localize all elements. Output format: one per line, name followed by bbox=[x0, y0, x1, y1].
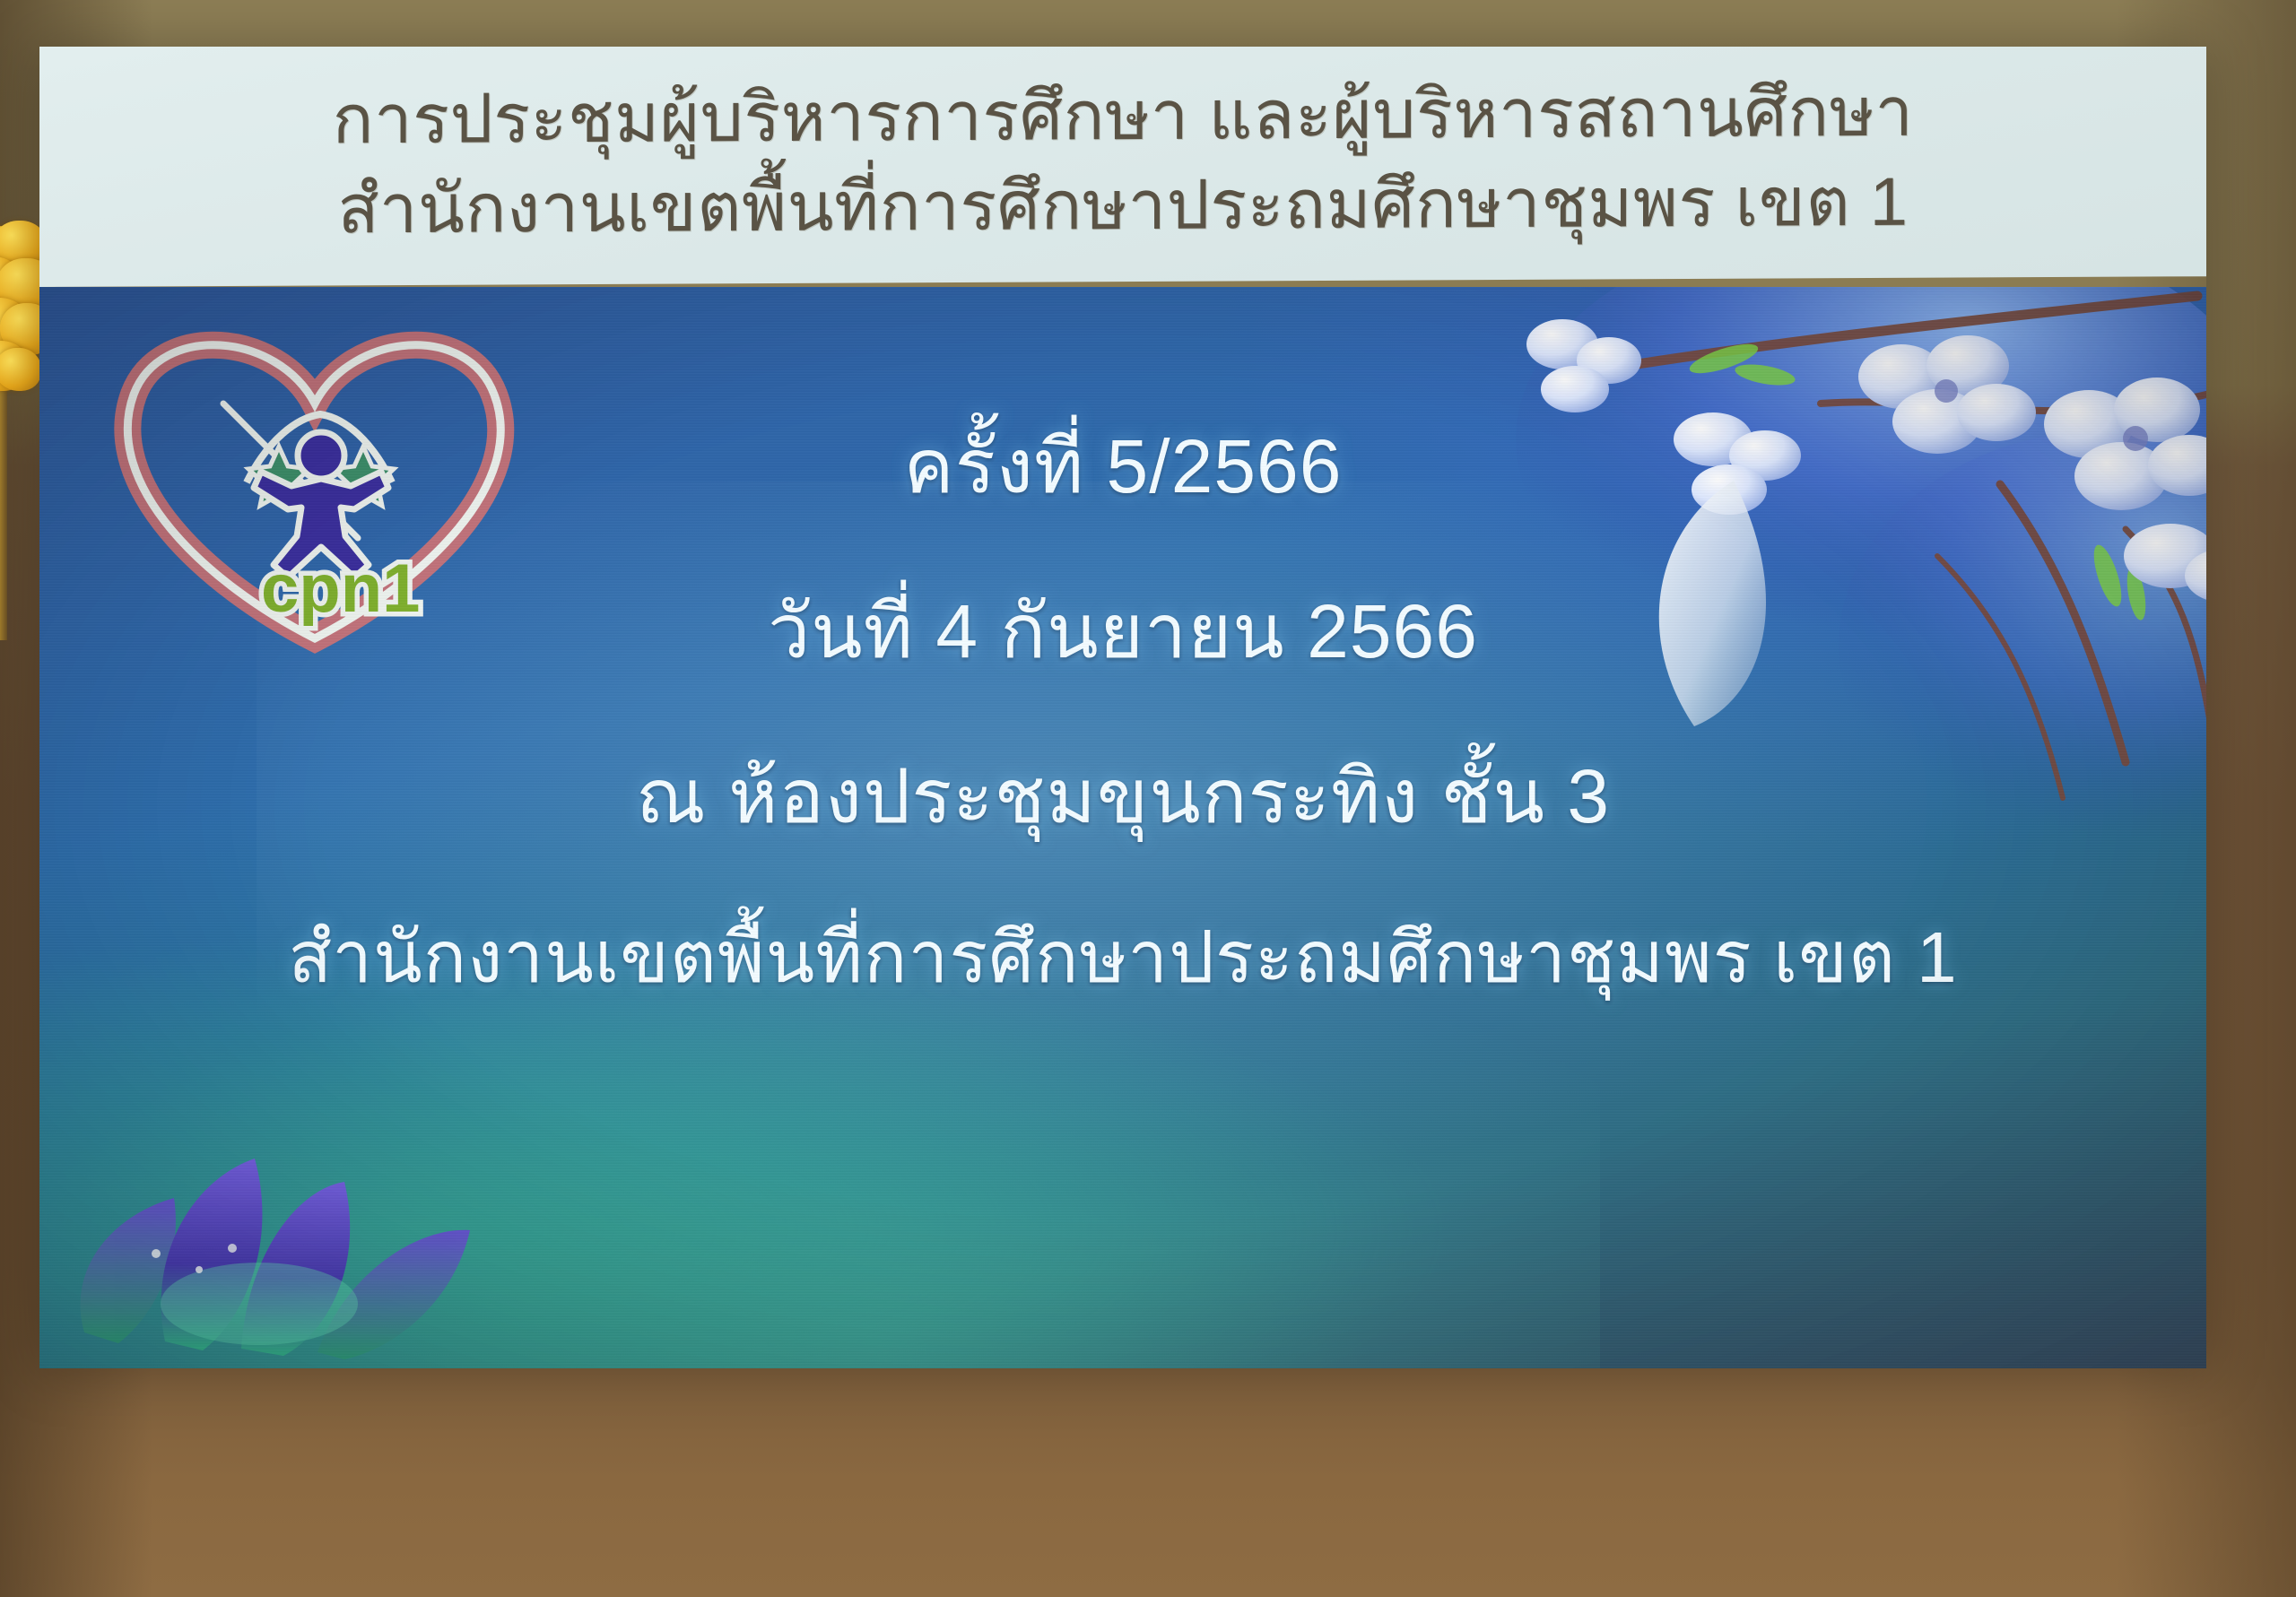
meeting-venue-line: ณ ห้องประชุมขุนกระทิง ชั้น 3 bbox=[39, 759, 2206, 834]
banner-title-line-2: สำนักงานเขตพื้นที่การศึกษาประถมศึกษาชุมพ… bbox=[337, 158, 1908, 256]
slide-title-banner: การประชุมผู้บริหารการศึกษา และผู้บริหารส… bbox=[39, 47, 2206, 287]
meeting-number-line: ครั้งที่ 5/2566 bbox=[39, 429, 2206, 504]
banner-title-line-1: การประชุมผู้บริหารการศึกษา และผู้บริหารส… bbox=[332, 67, 1913, 165]
slide-image-area: cpn1 cpn1 ครั้งที่ 5/2566 วันที่ 4 กันยา… bbox=[39, 287, 2206, 1368]
meeting-date-line: วันที่ 4 กันยายน 2566 bbox=[39, 594, 2206, 669]
photo-frame: การประชุมผู้บริหารการศึกษา และผู้บริหารส… bbox=[0, 0, 2296, 1597]
purple-lotus-icon bbox=[48, 1063, 551, 1359]
projected-slide: การประชุมผู้บริหารการศึกษา และผู้บริหารส… bbox=[39, 47, 2206, 1368]
organization-line: สำนักงานเขตพื้นที่การศึกษาประถมศึกษาชุมพ… bbox=[39, 922, 2206, 994]
slide-body-text: ครั้งที่ 5/2566 วันที่ 4 กันยายน 2566 ณ … bbox=[39, 377, 2206, 994]
flower-stem bbox=[0, 371, 7, 640]
flower-petal bbox=[0, 348, 41, 391]
